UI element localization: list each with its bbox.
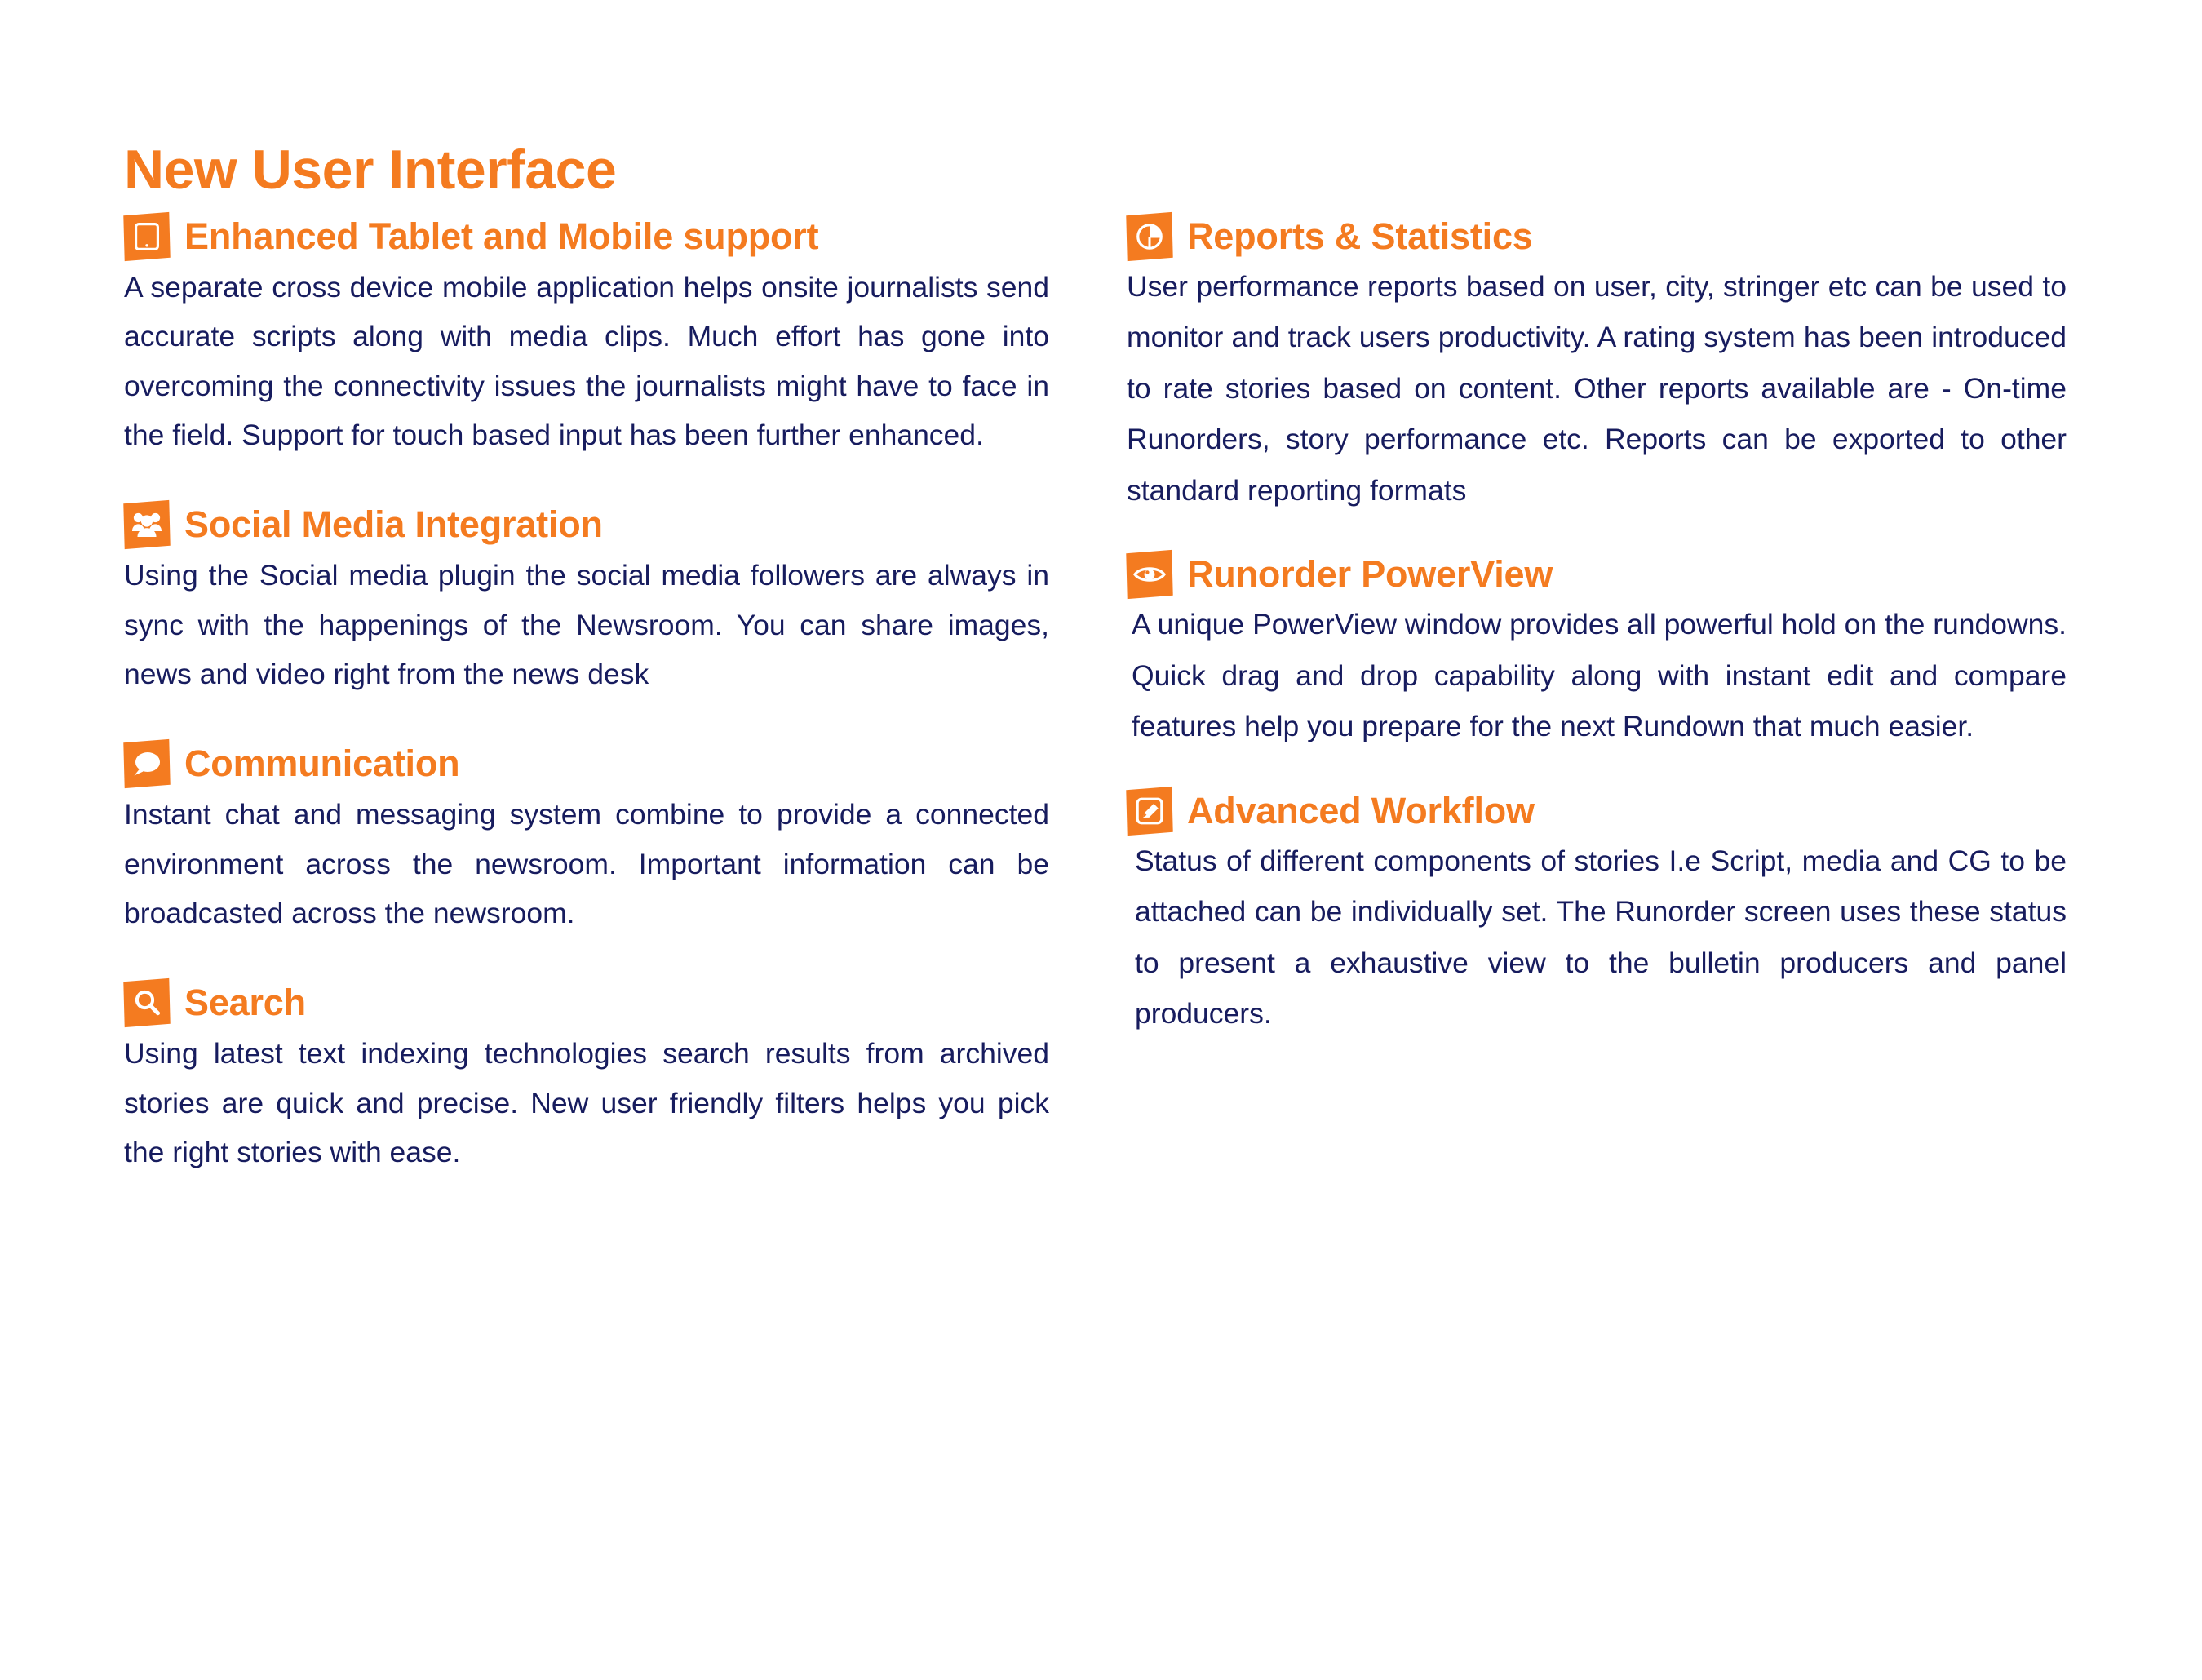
speech-bubble-icon — [123, 739, 170, 788]
feature-columns: Enhanced Tablet and Mobile support A sep… — [0, 214, 2202, 1177]
feature-body: Instant chat and messaging system combin… — [124, 790, 1049, 938]
eye-icon — [1126, 550, 1172, 599]
feature-search: Search Using latest text indexing techno… — [124, 980, 1049, 1177]
pie-chart-icon — [1126, 212, 1172, 261]
feature-body: A unique PowerView window provides all p… — [1127, 599, 2067, 751]
feature-header: Social Media Integration — [124, 502, 1049, 547]
feature-header: Advanced Workflow — [1127, 788, 2067, 834]
feature-title: Runorder PowerView — [1187, 554, 1553, 595]
pencil-edit-icon — [1126, 787, 1172, 836]
feature-runorder-powerview: Runorder PowerView A unique PowerView wi… — [1127, 552, 2067, 751]
feature-advanced-workflow: Advanced Workflow Status of different co… — [1127, 788, 2067, 1039]
feature-title: Search — [184, 982, 306, 1023]
feature-header: Reports & Statistics — [1127, 214, 2067, 259]
feature-body: A separate cross device mobile applicati… — [124, 263, 1049, 459]
feature-title: Advanced Workflow — [1187, 791, 1535, 831]
slide-page: New User Interface Enhanced Tablet and M… — [0, 0, 2202, 1680]
feature-communication: Communication Instant chat and messaging… — [124, 741, 1049, 938]
feature-social-media-integration: Social Media Integration Using the Socia… — [124, 502, 1049, 698]
people-group-icon — [123, 500, 170, 549]
feature-header: Search — [124, 980, 1049, 1026]
tablet-mobile-icon — [123, 212, 170, 261]
feature-title: Social Media Integration — [184, 504, 603, 545]
feature-body: Using the Social media plugin the social… — [124, 551, 1049, 698]
feature-enhanced-tablet-and-mobile-support: Enhanced Tablet and Mobile support A sep… — [124, 214, 1049, 459]
feature-title: Communication — [184, 743, 459, 784]
feature-body: Using latest text indexing technologies … — [124, 1029, 1049, 1177]
feature-title: Reports & Statistics — [1187, 216, 1533, 257]
feature-header: Communication — [124, 741, 1049, 787]
feature-header: Enhanced Tablet and Mobile support — [124, 214, 1049, 259]
feature-body: Status of different components of storie… — [1127, 836, 2067, 1039]
feature-header: Runorder PowerView — [1127, 552, 2067, 597]
right-column: Reports & Statistics User performance re… — [1096, 214, 2202, 1039]
feature-title: Enhanced Tablet and Mobile support — [184, 216, 818, 257]
page-title: New User Interface — [124, 140, 616, 201]
left-column: Enhanced Tablet and Mobile support A sep… — [0, 214, 1096, 1177]
feature-body: User performance reports based on user, … — [1127, 261, 2067, 516]
magnifier-icon — [123, 978, 170, 1027]
feature-reports-and-statistics: Reports & Statistics User performance re… — [1127, 214, 2067, 516]
